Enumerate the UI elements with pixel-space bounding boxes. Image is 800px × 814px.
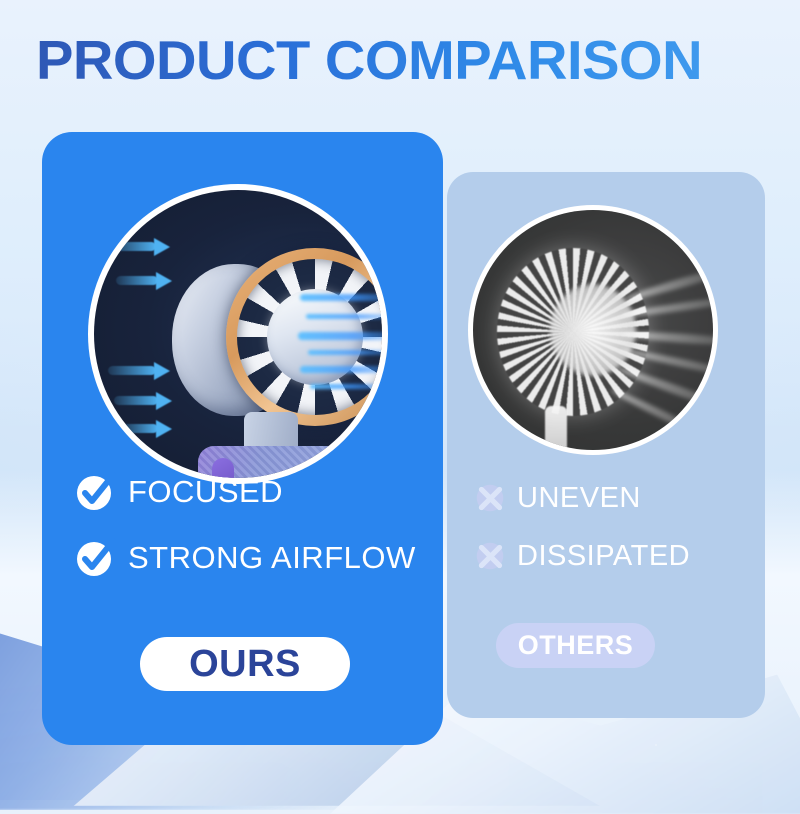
others-feature-list: UNEVEN DISSIPATED [471,479,765,595]
others-product-scene [473,210,713,450]
page-title: PRODUCT COMPARISON [36,30,791,90]
intake-arrow-tail [110,242,156,251]
others-feature-label: UNEVEN [517,482,641,515]
others-badge: OTHERS [496,623,655,668]
others-feature-label: DISSIPATED [517,540,690,573]
others-airflow-wisp [624,262,713,304]
others-feature-row: DISSIPATED [471,537,765,575]
others-feature-row: UNEVEN [471,479,765,517]
others-product-photo [468,205,718,455]
airflow-beam [310,384,382,389]
intake-arrow-icon [154,362,170,380]
cross-circle-icon [471,479,509,517]
ours-product-photo [88,184,388,484]
others-airflow-wisp [615,364,713,417]
intake-arrow-icon [156,420,172,438]
check-circle-icon [74,470,118,514]
ours-feature-row: FOCUSED [74,470,443,514]
airflow-beam [298,332,382,340]
comparison-card-others: UNEVEN DISSIPATED OTHERS [447,172,765,718]
intake-arrow-tail [108,366,156,375]
airflow-beam [306,314,382,319]
intake-arrow-icon [154,238,170,256]
ours-badge: OURS [140,637,350,691]
intake-arrow-icon [156,272,172,290]
intake-arrow-tail [114,396,158,405]
cross-circle-icon [471,537,509,575]
intake-arrow-tail [122,424,158,433]
airflow-beam [300,294,382,301]
ours-badge-label: OURS [189,645,301,683]
ours-product-scene [94,190,382,478]
ours-feature-row: STRONG AIRFLOW [74,536,443,580]
intake-arrow-tail [116,276,158,285]
check-circle-icon [74,536,118,580]
ours-feature-label: FOCUSED [128,474,283,510]
airflow-beam [300,366,382,373]
others-fan-hub [550,284,636,376]
intake-arrow-icon [156,392,172,410]
ours-feature-label: STRONG AIRFLOW [128,540,416,576]
others-badge-label: OTHERS [518,632,634,659]
comparison-card-ours: FOCUSED STRONG AIRFLOW OURS [42,132,443,745]
ours-feature-list: FOCUSED STRONG AIRFLOW [74,470,443,602]
others-fan-stem [545,406,567,450]
airflow-beam [308,350,382,355]
